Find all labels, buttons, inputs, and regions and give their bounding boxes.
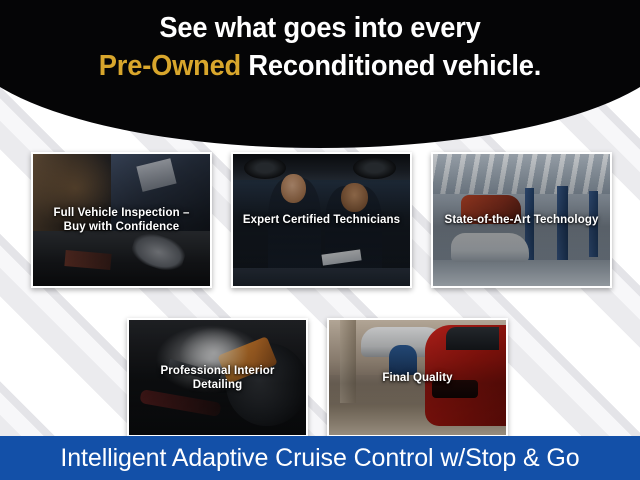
page-title: See what goes into every Pre-Owned Recon… [0, 10, 640, 84]
feature-card-expert-certified-technicians[interactable]: Expert Certified Technicians [231, 152, 412, 288]
feature-card-full-vehicle-inspection[interactable]: Full Vehicle Inspection – Buy with Confi… [31, 152, 212, 288]
feature-banner-text: Intelligent Adaptive Cruise Control w/St… [60, 444, 579, 473]
card-label: Professional Interior Detailing [129, 364, 306, 392]
feature-card-professional-interior-detailing[interactable]: Professional Interior Detailing [127, 318, 308, 437]
feature-banner: Intelligent Adaptive Cruise Control w/St… [0, 436, 640, 480]
feature-card-final-quality[interactable]: Final Quality [327, 318, 508, 437]
header-content: See what goes into every Pre-Owned Recon… [0, 0, 640, 148]
promo-graphic: See what goes into every Pre-Owned Recon… [0, 0, 640, 480]
headline-line-1: See what goes into every [19, 10, 621, 46]
feature-card-state-of-the-art-technology[interactable]: State-of-the-Art Technology [431, 152, 612, 288]
headline-highlight: Pre-Owned [99, 50, 241, 82]
header-banner: See what goes into every Pre-Owned Recon… [0, 0, 640, 148]
card-label: State-of-the-Art Technology [433, 213, 610, 227]
card-label: Expert Certified Technicians [233, 213, 410, 227]
headline-line-2-rest: Reconditioned vehicle. [241, 50, 541, 82]
headline-line-2: Pre-Owned Reconditioned vehicle. [19, 48, 621, 84]
card-label: Full Vehicle Inspection – Buy with Confi… [33, 206, 210, 234]
card-label: Final Quality [329, 371, 506, 385]
